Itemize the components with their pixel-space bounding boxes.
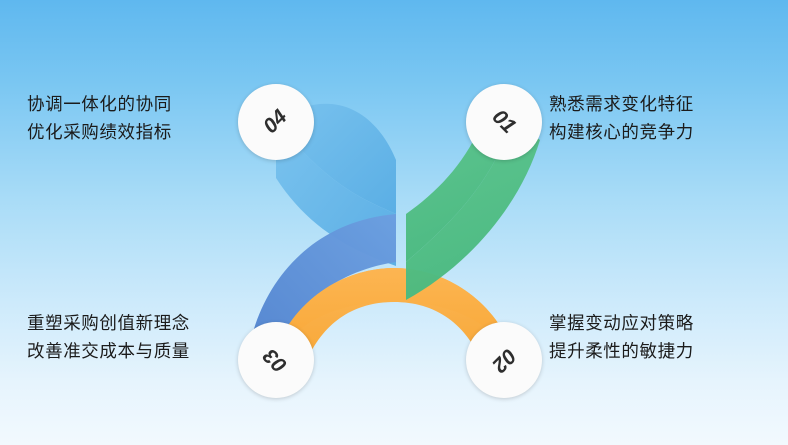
badge-03-text: 03 <box>259 343 292 376</box>
label-02-line2: 提升柔性的敏捷力 <box>549 337 694 365</box>
label-04-line1: 协调一体化的协同 <box>27 90 172 118</box>
badge-01: 01 <box>466 84 542 160</box>
label-02-line1: 掌握变动应对策略 <box>549 309 694 337</box>
badge-03: 03 <box>238 322 314 398</box>
badge-01-text: 01 <box>487 105 520 138</box>
badge-04: 04 <box>238 84 314 160</box>
label-04-line2: 优化采购绩效指标 <box>27 118 172 146</box>
label-01-line1: 熟悉需求变化特征 <box>549 90 694 118</box>
slide-canvas: 04 01 03 02 协调一体化的协同 优化采购绩效指标 熟悉需求变化特征 构… <box>0 0 788 445</box>
cycle-diagram <box>0 0 788 445</box>
label-01-line2: 构建核心的竞争力 <box>549 118 694 146</box>
badge-02-text: 02 <box>487 343 520 376</box>
label-04: 协调一体化的协同 优化采购绩效指标 <box>27 90 172 147</box>
label-03-line2: 改善准交成本与质量 <box>27 337 190 365</box>
badge-04-text: 04 <box>259 105 292 138</box>
label-03-line1: 重塑采购创值新理念 <box>27 309 190 337</box>
label-03: 重塑采购创值新理念 改善准交成本与质量 <box>27 309 190 366</box>
label-02: 掌握变动应对策略 提升柔性的敏捷力 <box>549 309 694 366</box>
label-01: 熟悉需求变化特征 构建核心的竞争力 <box>549 90 694 147</box>
badge-02: 02 <box>466 322 542 398</box>
